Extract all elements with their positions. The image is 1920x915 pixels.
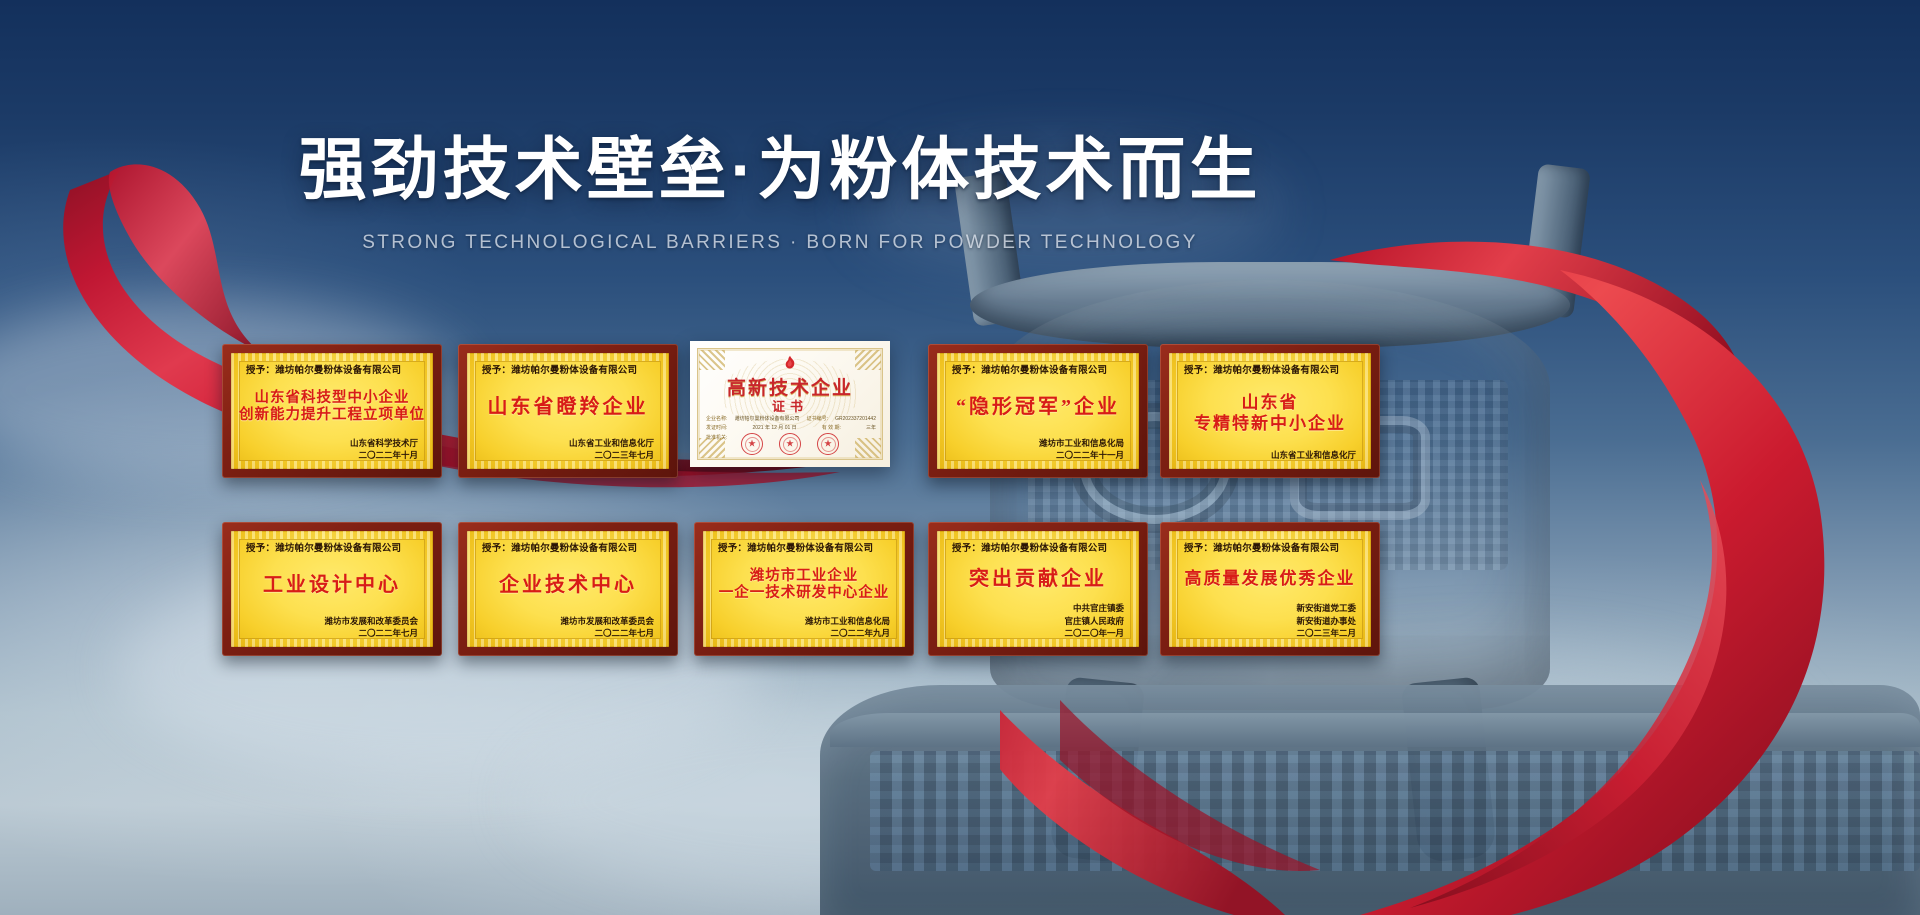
high-tech-enterprise-certificate[interactable]: 高新技术企业 证书 企业名称: 潍坊帕尔曼粉体设备有限公司 证书编号: GR20… [690,341,890,467]
banner-stage: 强劲技术壁垒·为粉体技术而生 STRONG TECHNOLOGICAL BARR… [0,0,1920,915]
official-seal-icon [817,433,839,455]
plaque-gold-panel: 授予：潍坊帕尔曼粉体设备有限公司 企业技术中心 潍坊市发展和改革委员会 二〇二二… [467,531,669,647]
certificate-field-key: 证书编号: [807,415,828,424]
plaque-title: 潍坊市工业企业 一企一技术研发中心企业 [714,556,894,615]
plaque-title: 山东省 专精特新中小企业 [1180,378,1360,449]
plaque-issuer: 潍坊市发展和改革委员会 二〇二二年七月 [242,615,422,641]
page-subtitle: STRONG TECHNOLOGICAL BARRIERS · BORN FOR… [0,232,1560,254]
plaque-issuer-date: 二〇二二年七月 [242,627,418,640]
plaque-awardee: 授予：潍坊帕尔曼粉体设备有限公司 [242,362,422,376]
plaque-issuer: 山东省工业和信息化厅 二〇二三年七月 [478,437,658,463]
plaque-title-line: 创新能力提升工程立项单位 [239,407,425,425]
plaque-title-line: 山东省科技型中小企业 [255,390,410,408]
plaque-title-line: 一企一技术研发中心企业 [719,585,890,603]
plaque-issuer-line: 潍坊市工业和信息化局 [714,615,890,628]
plaque-issuer: 潍坊市工业和信息化局 二〇二二年十一月 [948,437,1128,463]
plaque-awardee: 授予：潍坊帕尔曼粉体设备有限公司 [948,540,1128,554]
plaque-gold-panel: 授予：潍坊帕尔曼粉体设备有限公司 山东省科技型中小企业 创新能力提升工程立项单位… [231,353,433,469]
page-title: 强劲技术壁垒·为粉体技术而生 [0,130,1560,210]
plaque-row-top: 授予：潍坊帕尔曼粉体设备有限公司 山东省科技型中小企业 创新能力提升工程立项单位… [0,336,1920,484]
plaque-gold-panel: 授予：潍坊帕尔曼粉体设备有限公司 工业设计中心 潍坊市发展和改革委员会 二〇二二… [231,531,433,647]
certificate-subtitle: 证书 [690,396,890,415]
plaque-title: 山东省瞪羚企业 [478,378,658,437]
plaque-awardee: 授予：潍坊帕尔曼粉体设备有限公司 [1180,362,1360,376]
shandong-gazelle-enterprise-plaque[interactable]: 授予：潍坊帕尔曼粉体设备有限公司 山东省瞪羚企业 山东省工业和信息化厅 二〇二三… [458,344,678,478]
certificate-corner-ornament [855,350,881,370]
plaque-gold-panel: 授予：潍坊帕尔曼粉体设备有限公司 山东省 专精特新中小企业 山东省工业和信息化厅 [1169,353,1371,469]
plaque-issuer-date: 二〇二二年十月 [242,449,418,462]
plaque-title-line: 企业技术中心 [499,573,637,597]
certificate-field-value: GR202337201442 [835,415,876,424]
plaque-awardee: 授予：潍坊帕尔曼粉体设备有限公司 [478,540,658,554]
plaque-issuer-line: 山东省科学技术厅 [242,437,418,450]
plaque-issuer-date: 二〇二三年二月 [1180,627,1356,640]
high-quality-development-excellent-enterprise-plaque[interactable]: 授予：潍坊帕尔曼粉体设备有限公司 高质量发展优秀企业 新安街道党工委 新安街道办… [1160,522,1380,656]
plaque-title-line: 工业设计中心 [263,573,401,597]
plaque-issuer-date: 二〇二二年十一月 [948,449,1124,462]
plaque-issuer: 山东省科学技术厅 二〇二二年十月 [242,437,422,463]
honors-plaque-grid: 授予：潍坊帕尔曼粉体设备有限公司 山东省科技型中小企业 创新能力提升工程立项单位… [0,336,1920,680]
plaque-gold-panel: 授予：潍坊帕尔曼粉体设备有限公司 山东省瞪羚企业 山东省工业和信息化厅 二〇二三… [467,353,669,469]
plaque-issuer-line: 山东省工业和信息化厅 [478,437,654,450]
plaque-gold-panel: 授予：潍坊帕尔曼粉体设备有限公司 高质量发展优秀企业 新安街道党工委 新安街道办… [1169,531,1371,647]
certificate-corner-ornament [699,350,725,370]
plaque-title-line: 突出贡献企业 [969,567,1107,591]
plaque-issuer-line: 山东省工业和信息化厅 [1180,449,1356,462]
plaque-gold-panel: 授予：潍坊帕尔曼粉体设备有限公司 “隐形冠军”企业 潍坊市工业和信息化局 二〇二… [937,353,1139,469]
plaque-issuer-line: 新安街道办事处 [1180,615,1356,628]
plaque-title-line: “隐形冠军”企业 [956,395,1120,419]
official-seal-icon [741,433,763,455]
plaque-issuer-date: 二〇二三年七月 [478,449,654,462]
plaque-issuer-line: 新安街道党工委 [1180,602,1356,615]
stone-plinth-lip [830,713,1920,747]
shandong-specialized-sme-plaque[interactable]: 授予：潍坊帕尔曼粉体设备有限公司 山东省 专精特新中小企业 山东省工业和信息化厅 [1160,344,1380,478]
plaque-title: “隐形冠军”企业 [948,378,1128,437]
plaque-issuer-line: 潍坊市发展和改革委员会 [478,615,654,628]
stone-carved-frieze [870,751,1920,871]
hidden-champion-enterprise-plaque[interactable]: 授予：潍坊帕尔曼粉体设备有限公司 “隐形冠军”企业 潍坊市工业和信息化局 二〇二… [928,344,1148,478]
official-seal-icon [779,433,801,455]
plaque-issuer-line: 潍坊市发展和改革委员会 [242,615,418,628]
plaque-title: 工业设计中心 [242,556,422,615]
plaque-issuer-date: 二〇二二年七月 [478,627,654,640]
certificate-field-row: 企业名称: 潍坊帕尔曼粉体设备有限公司 证书编号: GR202337201442 [706,415,876,424]
shandong-sci-tech-sme-plaque[interactable]: 授予：潍坊帕尔曼粉体设备有限公司 山东省科技型中小企业 创新能力提升工程立项单位… [222,344,442,478]
plaque-row-bottom: 授予：潍坊帕尔曼粉体设备有限公司 工业设计中心 潍坊市发展和改革委员会 二〇二二… [0,508,1920,656]
plaque-issuer-date: 二〇二二年九月 [714,627,890,640]
plaque-title-line: 高质量发展优秀企业 [1185,569,1356,590]
plaque-title: 山东省科技型中小企业 创新能力提升工程立项单位 [242,378,422,437]
industrial-design-center-plaque[interactable]: 授予：潍坊帕尔曼粉体设备有限公司 工业设计中心 潍坊市发展和改革委员会 二〇二二… [222,522,442,656]
certificate-field-value: 潍坊帕尔曼粉体设备有限公司 [735,415,800,424]
title-block: 强劲技术壁垒·为粉体技术而生 STRONG TECHNOLOGICAL BARR… [0,130,1560,254]
plaque-issuer: 潍坊市工业和信息化局 二〇二二年九月 [714,615,894,641]
plaque-awardee: 授予：潍坊帕尔曼粉体设备有限公司 [948,362,1128,376]
plaque-issuer-date: 二〇二〇年一月 [948,627,1124,640]
plaque-awardee: 授予：潍坊帕尔曼粉体设备有限公司 [714,540,894,554]
plaque-awardee: 授予：潍坊帕尔曼粉体设备有限公司 [1180,540,1360,554]
plaque-issuer-line: 中共官庄镇委 [948,602,1124,615]
plaque-title: 突出贡献企业 [948,556,1128,602]
plaque-issuer: 中共官庄镇委 官庄镇人民政府 二〇二〇年一月 [948,602,1128,640]
certificate-field-key: 企业名称: [706,415,727,424]
enterprise-technology-center-plaque[interactable]: 授予：潍坊帕尔曼粉体设备有限公司 企业技术中心 潍坊市发展和改革委员会 二〇二二… [458,522,678,656]
plaque-title: 企业技术中心 [478,556,658,615]
plaque-title: 高质量发展优秀企业 [1180,556,1360,602]
plaque-issuer: 山东省工业和信息化厅 [1180,449,1360,462]
plaque-awardee: 授予：潍坊帕尔曼粉体设备有限公司 [478,362,658,376]
plaque-title-line: 专精特新中小企业 [1194,414,1346,435]
plaque-issuer: 潍坊市发展和改革委员会 二〇二二年七月 [478,615,658,641]
plaque-gold-panel: 授予：潍坊帕尔曼粉体设备有限公司 潍坊市工业企业 一企一技术研发中心企业 潍坊市… [703,531,905,647]
plaque-awardee: 授予：潍坊帕尔曼粉体设备有限公司 [242,540,422,554]
plaque-issuer-line: 潍坊市工业和信息化局 [948,437,1124,450]
plaque-title-line: 潍坊市工业企业 [750,568,859,586]
outstanding-contribution-enterprise-plaque[interactable]: 授予：潍坊帕尔曼粉体设备有限公司 突出贡献企业 中共官庄镇委 官庄镇人民政府 二… [928,522,1148,656]
plaque-title-line: 山东省瞪羚企业 [488,395,649,419]
weifang-rd-center-plaque[interactable]: 授予：潍坊帕尔曼粉体设备有限公司 潍坊市工业企业 一企一技术研发中心企业 潍坊市… [694,522,914,656]
plaque-issuer: 新安街道党工委 新安街道办事处 二〇二三年二月 [1180,602,1360,640]
certificate-seals [690,433,890,455]
plaque-title-line: 山东省 [1242,393,1299,414]
plaque-issuer-line: 官庄镇人民政府 [948,615,1124,628]
high-tech-flame-icon [781,355,799,373]
plaque-gold-panel: 授予：潍坊帕尔曼粉体设备有限公司 突出贡献企业 中共官庄镇委 官庄镇人民政府 二… [937,531,1139,647]
